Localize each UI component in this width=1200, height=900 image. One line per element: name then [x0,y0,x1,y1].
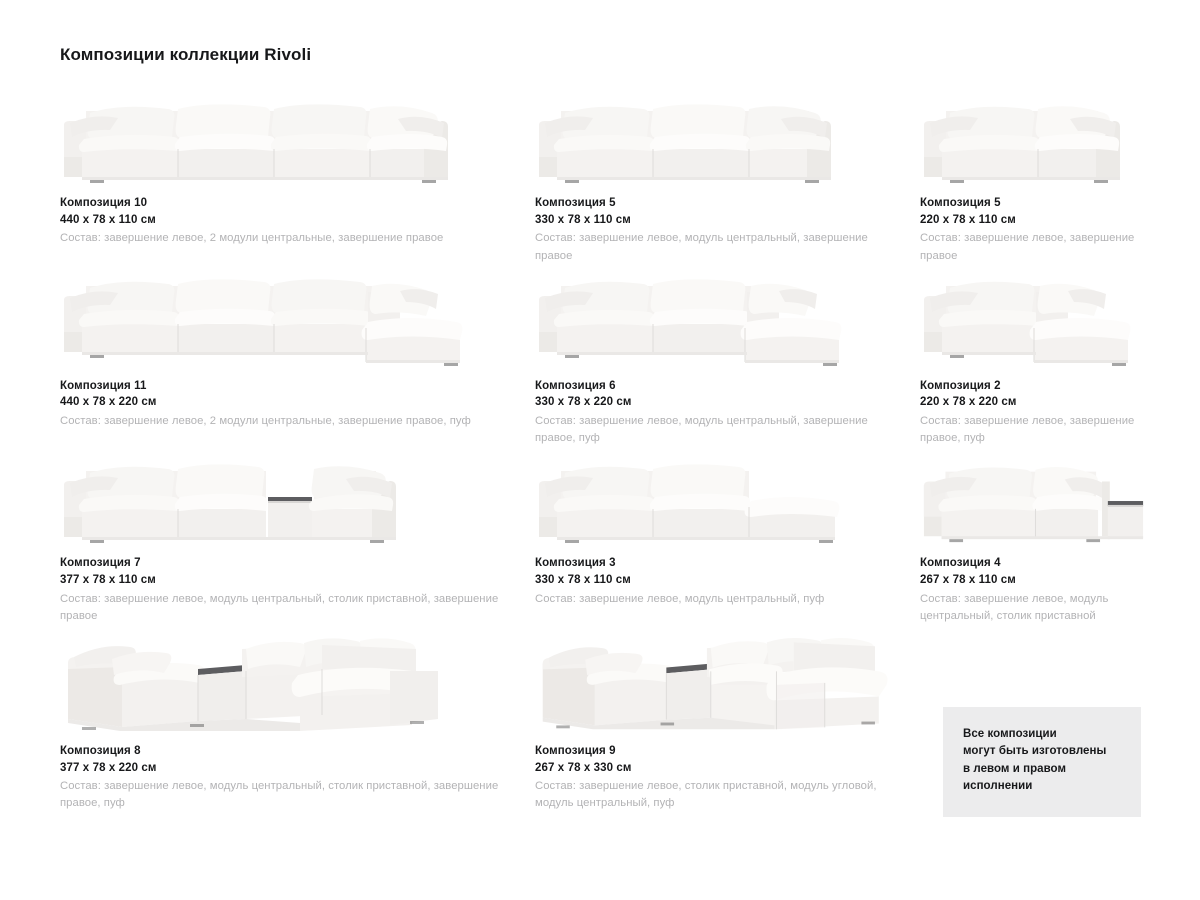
composition-contents: Состав: завершение левое, завершение пра… [920,230,1147,264]
composition-dimensions: 330 x 78 x 220 см [535,394,902,411]
card-text: Композиция 8 377 x 78 x 220 см Состав: з… [60,743,517,813]
page-title: Композиции коллекции Rivoli [60,45,1160,65]
composition-dimensions: 220 x 78 x 110 см [920,212,1147,229]
composition-card[interactable]: Композиция 11 440 x 78 x 220 см Состав: … [60,265,535,448]
sofa-illustration-front-4-pouf [60,265,517,370]
card-text: Композиция 7 377 x 78 x 110 см Состав: з… [60,555,517,625]
composition-card[interactable]: Композиция 4 267 x 78 x 110 см Состав: з… [920,447,1165,625]
sofa-front-2-modules-flat-pouf-icon [535,457,853,547]
composition-dimensions: 220 x 78 x 220 см [920,394,1147,411]
composition-name: Композиция 2 [920,378,1147,395]
sofa-front-3-modules-icon [535,97,853,187]
composition-name: Композиция 7 [60,555,517,572]
sofa-illustration-front-2-table [920,447,1147,547]
composition-dimensions: 330 x 78 x 110 см [535,212,902,229]
sofa-perspective-corner-icon [535,627,902,735]
card-text: Композиция 5 220 x 78 x 110 см Состав: з… [920,195,1147,265]
composition-name: Композиция 11 [60,378,517,395]
card-text: Композиция 5 330 x 78 x 110 см Состав: з… [535,195,902,265]
sofa-illustration-front-3 [535,87,902,187]
composition-name: Композиция 6 [535,378,902,395]
composition-dimensions: 377 x 78 x 220 см [60,760,517,777]
card-text: Композиция 11 440 x 78 x 220 см Состав: … [60,378,517,431]
composition-card[interactable]: Композиция 7 377 x 78 x 110 см Состав: з… [60,447,535,625]
sofa-front-4-modules-icon [60,97,470,187]
note-line-3: в левом и правом [963,761,1141,778]
composition-contents: Состав: завершение левое, 2 модули центр… [60,413,517,430]
note-box: Все композиции могут быть изготовлены в … [943,707,1141,817]
composition-dimensions: 267 x 78 x 330 см [535,760,902,777]
composition-card[interactable]: Композиция 8 377 x 78 x 220 см Состав: з… [60,625,535,813]
note-line-1: Все композиции [963,726,1141,743]
card-text: Композиция 2 220 x 78 x 220 см Состав: з… [920,378,1147,448]
composition-contents: Состав: завершение левое, 2 модули центр… [60,230,517,247]
note-line-4: исполнении [963,778,1141,795]
composition-name: Композиция 3 [535,555,902,572]
composition-name: Композиция 5 [920,195,1147,212]
sofa-illustration-perspective-corner [535,625,902,735]
sofa-front-2-modules-table-icon [920,457,1147,547]
sofa-illustration-front-2-pouf [920,265,1147,370]
composition-grid: Композиция 10 440 x 78 x 110 см Состав: … [60,87,1160,813]
composition-dimensions: 267 x 78 x 110 см [920,572,1147,589]
sofa-illustration-front-2-flat-pouf [535,447,902,547]
card-text: Композиция 10 440 x 78 x 110 см Состав: … [60,195,517,248]
composition-card[interactable]: Композиция 2 220 x 78 x 220 см Состав: з… [920,265,1165,448]
composition-dimensions: 377 x 78 x 110 см [60,572,517,589]
note-line-2: могут быть изготовлены [963,743,1141,760]
sofa-front-4-modules-pouf-icon [60,272,470,370]
catalog-page: Композиции коллекции Rivoli [0,0,1200,900]
composition-name: Композиция 5 [535,195,902,212]
composition-contents: Состав: завершение левое, модуль централ… [60,778,517,812]
card-text: Композиция 4 267 x 78 x 110 см Состав: з… [920,555,1147,625]
composition-contents: Состав: завершение левое, модуль централ… [60,591,517,625]
composition-dimensions: 440 x 78 x 110 см [60,212,517,229]
sofa-illustration-perspective-l [60,625,517,735]
sofa-front-2-modules-pouf-icon [920,272,1138,370]
composition-name: Композиция 9 [535,743,902,760]
composition-contents: Состав: завершение левое, модуль централ… [535,413,902,447]
composition-card[interactable]: Композиция 5 220 x 78 x 110 см Состав: з… [920,87,1165,265]
composition-name: Композиция 10 [60,195,517,212]
composition-contents: Состав: завершение левое, модуль централ… [535,230,902,264]
composition-name: Композиция 4 [920,555,1147,572]
composition-contents: Состав: завершение левое, завершение пра… [920,413,1147,447]
composition-card[interactable]: Композиция 10 440 x 78 x 110 см Состав: … [60,87,535,265]
sofa-perspective-l-shape-icon [60,627,450,735]
card-text: Композиция 6 330 x 78 x 220 см Состав: з… [535,378,902,448]
composition-name: Композиция 8 [60,743,517,760]
sofa-front-2-modules-icon [920,97,1138,187]
composition-card[interactable]: Композиция 5 330 x 78 x 110 см Состав: з… [535,87,920,265]
sofa-illustration-front-3-pouf [535,265,902,370]
composition-contents: Состав: завершение левое, модуль централ… [920,591,1147,625]
composition-card[interactable]: Композиция 3 330 x 78 x 110 см Состав: з… [535,447,920,625]
card-text: Композиция 3 330 x 78 x 110 см Состав: з… [535,555,902,608]
sofa-illustration-front-4 [60,87,517,187]
composition-contents: Состав: завершение левое, столик пристав… [535,778,902,812]
composition-dimensions: 330 x 78 x 110 см [535,572,902,589]
sofa-front-3-modules-table-icon [60,457,430,547]
card-text: Композиция 9 267 x 78 x 330 см Состав: з… [535,743,902,813]
composition-card[interactable]: Композиция 6 330 x 78 x 220 см Состав: з… [535,265,920,448]
composition-contents: Состав: завершение левое, модуль централ… [535,591,902,608]
sofa-illustration-front-3-table [60,447,517,547]
composition-card[interactable]: Композиция 9 267 x 78 x 330 см Состав: з… [535,625,920,813]
sofa-illustration-front-2 [920,87,1147,187]
composition-dimensions: 440 x 78 x 220 см [60,394,517,411]
sofa-front-3-modules-pouf-icon [535,272,853,370]
